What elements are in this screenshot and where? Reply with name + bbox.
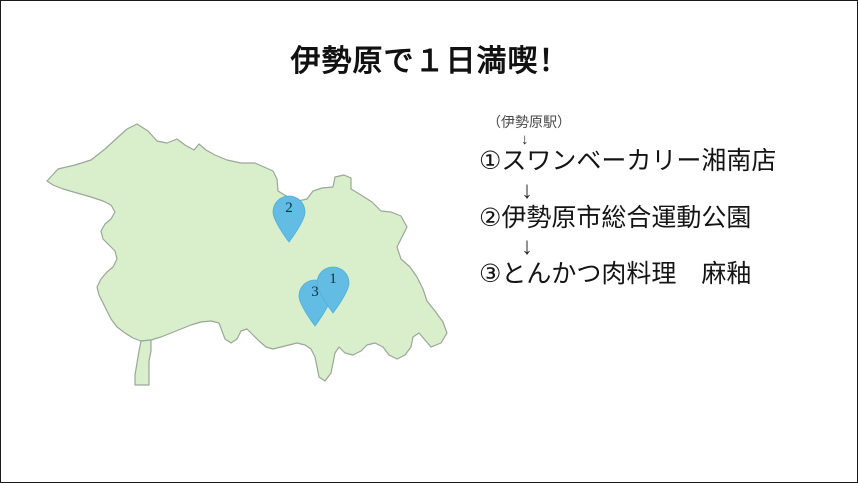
itinerary-arrow-1: ↓ (521, 132, 849, 147)
itinerary-arrow-3: ↓ (521, 235, 849, 259)
map-pin-2[interactable]: 2 (270, 195, 308, 243)
itinerary-step-3: ③とんかつ肉料理 麻釉 (479, 260, 849, 290)
map-container: 2 3 1 (45, 119, 465, 389)
map-pin-icon (270, 195, 308, 243)
itinerary-list: （伊勢原駅） ↓ ①スワンベーカリー湘南店 ↓ ②伊勢原市総合運動公園 ↓ ③と… (479, 113, 849, 290)
slide-canvas: 伊勢原で１日満喫！ 2 3 1 （伊勢原駅） ↓ ①ス (0, 0, 858, 483)
isehara-city-map-shape (45, 119, 465, 389)
map-pin-icon (314, 266, 352, 314)
itinerary-arrow-2: ↓ (521, 179, 849, 203)
itinerary-start-note: （伊勢原駅） (487, 113, 849, 131)
map-pin-1[interactable]: 1 (314, 266, 352, 314)
itinerary-step-2: ②伊勢原市総合運動公園 (479, 204, 849, 234)
itinerary-step-1: ①スワンベーカリー湘南店 (479, 147, 849, 177)
page-title: 伊勢原で１日満喫！ (1, 45, 858, 78)
